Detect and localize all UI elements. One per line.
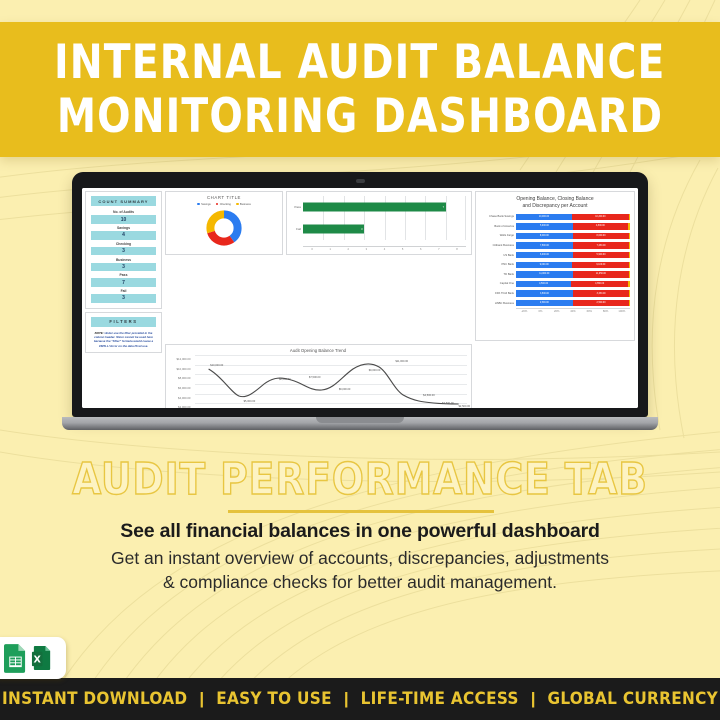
legend-item-business[interactable]: Business (236, 203, 251, 206)
line-chart-svg (195, 355, 467, 408)
stacked-row-label: Citibank Business (480, 244, 516, 247)
svg-text:X: X (34, 654, 42, 665)
stacked-seg-closing-value: 9,100.00 (596, 264, 605, 266)
stack-tick-1: 0% (532, 310, 548, 313)
stacked-seg-discrepancy (629, 233, 630, 239)
stack-tick-2: 20% (549, 310, 565, 313)
stacked-seg-closing: 10,200.00 (572, 214, 629, 220)
stacked-seg-discrepancy (629, 300, 630, 306)
footer-item-1: EASY TO USE (216, 689, 332, 709)
stacked-row-label: Chase Bank Savings (480, 215, 516, 218)
stacked-seg-discrepancy (629, 271, 630, 277)
stacked-seg-closing-value: 10,200.00 (595, 216, 605, 218)
stacked-seg-opening: 7,500.00 (516, 242, 573, 248)
donut-chart-card: CHART TITLE Savings Checking Business (165, 191, 283, 255)
stacked-row-track: 3,500.003,450.00 (516, 290, 630, 296)
stacked-seg-opening-value: 6,000.00 (540, 254, 549, 256)
y-tick-0: $12,000.00 (177, 357, 191, 361)
banner-title-line1: INTERNAL AUDIT BALANCE (54, 36, 665, 90)
y-tick-4: $4,000.00 (178, 396, 190, 400)
stacked-seg-opening-value: 4,500.00 (539, 283, 548, 285)
stacked-seg-discrepancy (629, 290, 630, 296)
stack-tick-4: 60% (581, 310, 597, 313)
stacked-seg-opening: 3,500.00 (516, 290, 573, 296)
stacked-seg-discrepancy (629, 214, 630, 220)
line-point-label-9: $2,500.00 (458, 405, 470, 408)
stacked-seg-closing-value: 5,900.00 (597, 254, 606, 256)
laptop-lid: COUNT SUMMARY No. of Audits 10 Savings 4… (72, 172, 648, 417)
stack-tick-5: 80% (597, 310, 613, 313)
stacked-seg-opening-value: 3,500.00 (540, 293, 549, 295)
stacked-row-label: Capital One (480, 282, 516, 285)
bar-row-fail: Fail 3 (290, 218, 466, 240)
stacked-seg-closing: 8,000.00 (573, 233, 630, 239)
stacked-row-track: 11,000.0011,050.00 (516, 271, 630, 277)
stacked-row-label: Bank of America (480, 225, 516, 228)
dashboard-left-column: COUNT SUMMARY No. of Audits 10 Savings 4… (85, 191, 162, 341)
webcam-icon (356, 179, 365, 183)
stacked-row-track: 2,500.002,500.00 (516, 300, 630, 306)
line-point-label-4: $6,000.00 (339, 388, 351, 391)
promo-description-line2: & compliance checks for better audit man… (0, 570, 720, 594)
spreadsheet-dashboard: COUNT SUMMARY No. of Audits 10 Savings 4… (82, 188, 638, 408)
dashboard-middle-row: Audit Opening Balance Trend $12,000.00 $… (85, 344, 635, 408)
legend-swatch-checking (216, 203, 219, 206)
stacked-seg-discrepancy (629, 252, 630, 258)
line-point-label-7: $4,500.00 (423, 394, 435, 397)
excel-icon: X (31, 644, 54, 673)
middle-spacer-right (475, 344, 635, 408)
stacked-seg-opening-value: 7,500.00 (540, 245, 549, 247)
laptop-mockup: COUNT SUMMARY No. of Audits 10 Savings 4… (62, 172, 658, 430)
stacked-seg-closing-value: 3,450.00 (597, 293, 606, 295)
y-tick-5: $2,000.00 (178, 405, 190, 408)
bar-fill-pass: 7 (303, 203, 446, 212)
stacked-seg-opening: 6,000.00 (516, 252, 573, 258)
promo-tagline: See all financial balances in one powerf… (0, 520, 720, 543)
stacked-seg-closing-value: 8,000.00 (597, 235, 606, 237)
bar-tick-8: 8 (448, 248, 466, 251)
donut-chart-title: CHART TITLE (169, 195, 279, 200)
stacked-axis: -20% 0% 20% 40% 60% 80% 100% (516, 308, 630, 313)
line-point-label-6: $11,000.00 (395, 360, 408, 363)
donut-legend: Savings Checking Business (169, 203, 279, 206)
stacked-seg-opening: 4,500.00 (516, 281, 571, 287)
line-point-label-1: $5,000.00 (244, 400, 256, 403)
bar-tick-3: 3 (357, 248, 375, 251)
stacked-seg-discrepancy (628, 281, 630, 287)
filters-title: FILTERS (91, 317, 156, 327)
stacked-seg-closing-value: 7,450.00 (597, 245, 606, 247)
stacked-row-label: US Bank (480, 254, 516, 257)
bar-axis: 0 1 2 3 4 5 6 7 8 (303, 246, 466, 251)
legend-label-business: Business (240, 203, 251, 206)
y-tick-3: $6,000.00 (178, 386, 190, 390)
line-point-label-5: $9,000.00 (369, 369, 381, 372)
line-point-label-8: $3,500.00 (442, 402, 454, 405)
stacked-row: Chase Bank Savings10,000.0010,200.00 (480, 212, 630, 222)
bar-tick-1: 1 (321, 248, 339, 251)
middle-spacer (85, 344, 162, 408)
stacked-row-track: 10,000.0010,200.00 (516, 214, 630, 220)
laptop-notch (316, 417, 404, 423)
count-summary-panel: COUNT SUMMARY No. of Audits 10 Savings 4… (85, 191, 162, 309)
stack-tick-3: 40% (565, 310, 581, 313)
legend-item-checking[interactable]: Checking (216, 203, 231, 206)
stacked-seg-closing: 2,500.00 (573, 300, 630, 306)
stacked-row-label: Fifth Third Bank (480, 292, 516, 295)
dashboard-top-row: COUNT SUMMARY No. of Audits 10 Savings 4… (85, 191, 635, 341)
banner-title-line2: MONITORING DASHBOARD (57, 90, 663, 144)
footer-item-2: LIFE-TIME ACCESS (361, 689, 519, 709)
line-point-label-2: $8,000.00 (279, 378, 291, 381)
line-chart-yaxis: $12,000.00 $10,000.00 $8,000.00 $6,000.0… (166, 359, 192, 408)
stacked-seg-opening: 10,000.00 (516, 214, 572, 220)
laptop-base (62, 417, 658, 430)
count-value-business: 3 (91, 263, 156, 271)
legend-label-savings: Savings (201, 203, 211, 206)
line-chart-card: Audit Opening Balance Trend $12,000.00 $… (165, 344, 472, 408)
y-tick-1: $10,000.00 (177, 367, 191, 371)
count-value-savings: 4 (91, 231, 156, 239)
stacked-seg-closing-value: 2,500.00 (597, 302, 606, 304)
stacked-seg-opening-value: 8,000.00 (540, 235, 549, 237)
donut-chart-svg (204, 208, 244, 248)
stacked-chart-title: Opening Balance, Closing Balance and Dis… (480, 196, 630, 209)
line-chart-series (209, 364, 459, 404)
bar-value-fail: 3 (361, 228, 362, 231)
line-chart-plot: $10,000.00 $5,000.00 $8,000.00 $7,500.00… (195, 355, 467, 408)
count-value-fail: 3 (91, 294, 156, 302)
footer-separator-2: | (531, 689, 536, 709)
stacked-row-track: 9,000.009,100.00 (516, 262, 630, 268)
stacked-seg-opening: 9,000.00 (516, 262, 572, 268)
footer-item-0: INSTANT DOWNLOAD (2, 689, 187, 709)
count-value-pass: 7 (91, 278, 156, 286)
count-value-audits: 10 (91, 215, 156, 223)
stacked-seg-opening-value: 11,000.00 (539, 273, 549, 275)
bar-value-pass: 7 (443, 206, 444, 209)
stacked-row: Fifth Third Bank3,500.003,450.00 (480, 289, 630, 299)
stacked-row-label: TD Bank (480, 273, 516, 276)
pass-fail-bar-card: Pass 7 (286, 191, 472, 255)
stacked-seg-discrepancy (629, 242, 630, 248)
line-point-label-0: $10,000.00 (210, 364, 223, 367)
stacked-seg-closing-value: 4,800.00 (596, 225, 605, 227)
stacked-row-label: Wells Fargo (480, 234, 516, 237)
bar-fill-fail: 3 (303, 225, 364, 234)
stacked-seg-closing-value: 4,650.00 (595, 283, 604, 285)
stacked-row: Bank of America5,000.004,800.00 (480, 222, 630, 232)
stacked-row: TD Bank11,000.0011,050.00 (480, 270, 630, 280)
legend-swatch-business (236, 203, 239, 206)
stacked-seg-closing: 4,650.00 (571, 281, 628, 287)
stack-tick-0: -20% (516, 310, 532, 313)
bar-tick-7: 7 (430, 248, 448, 251)
y-tick-2: $8,000.00 (178, 376, 190, 380)
stacked-seg-opening: 5,000.00 (516, 223, 573, 229)
stacked-row-track: 6,000.005,900.00 (516, 252, 630, 258)
count-value-checking: 3 (91, 247, 156, 255)
stacked-row-label: PNC Bank (480, 263, 516, 266)
stacked-seg-closing-value: 11,050.00 (596, 273, 606, 275)
stacked-bar-card: Opening Balance, Closing Balance and Dis… (475, 191, 635, 341)
bar-tick-0: 0 (303, 248, 321, 251)
footer-separator-0: | (199, 689, 204, 709)
stacked-row-label: HSBC Business (480, 302, 516, 305)
stacked-row: Wells Fargo8,000.008,000.00 (480, 231, 630, 241)
bar-track-pass: 7 (303, 196, 466, 218)
legend-item-savings[interactable]: Savings (197, 203, 211, 206)
google-sheets-icon (4, 644, 27, 673)
stack-tick-6: 100% (614, 310, 630, 313)
stacked-seg-opening: 2,500.00 (516, 300, 573, 306)
file-format-badge: X (0, 637, 66, 679)
stacked-seg-opening-value: 2,500.00 (540, 302, 549, 304)
stacked-seg-closing: 11,050.00 (573, 271, 630, 277)
bar-label-fail: Fail (290, 227, 303, 231)
stacked-row-track: 8,000.008,000.00 (516, 233, 630, 239)
header-banner: INTERNAL AUDIT BALANCE MONITORING DASHBO… (0, 22, 720, 157)
footer-separator-1: | (344, 689, 349, 709)
stacked-row: Citibank Business7,500.007,450.00 (480, 241, 630, 251)
stacked-seg-opening-value: 10,000.00 (539, 216, 549, 218)
stacked-row: Capital One4,500.004,650.00 (480, 279, 630, 289)
stacked-seg-closing: 9,100.00 (572, 262, 629, 268)
line-point-label-3: $7,500.00 (309, 376, 321, 379)
section-title-rule (228, 510, 494, 513)
section-title: AUDIT PERFORMANCE TAB (18, 454, 702, 505)
bar-tick-5: 5 (394, 248, 412, 251)
bar-track-fail: 3 (303, 218, 466, 240)
bar-row-pass: Pass 7 (290, 196, 466, 218)
stacked-row: PNC Bank9,000.009,100.00 (480, 260, 630, 270)
laptop-screen: COUNT SUMMARY No. of Audits 10 Savings 4… (82, 188, 638, 408)
stacked-title-line2: and Discrepancy per Account (480, 203, 630, 210)
stacked-seg-opening: 8,000.00 (516, 233, 573, 239)
stacked-seg-opening-value: 5,000.00 (540, 225, 549, 227)
stacked-seg-opening-value: 9,000.00 (540, 264, 549, 266)
legend-label-checking: Checking (220, 203, 231, 206)
stacked-seg-discrepancy (628, 223, 630, 229)
bar-tick-4: 4 (375, 248, 393, 251)
filters-note-prefix: NOTE: (95, 331, 104, 335)
line-chart-title: Audit Opening Balance Trend (169, 348, 467, 353)
stacked-seg-opening: 11,000.00 (516, 271, 573, 277)
stacked-row-track: 7,500.007,450.00 (516, 242, 630, 248)
stacked-seg-discrepancy (629, 262, 630, 268)
stacked-seg-closing: 7,450.00 (573, 242, 629, 248)
stacked-row: HSBC Business2,500.002,500.00 (480, 298, 630, 308)
legend-swatch-savings (197, 203, 200, 206)
stacked-seg-closing: 3,450.00 (573, 290, 629, 296)
promo-description-line1: Get an instant overview of accounts, dis… (0, 546, 720, 570)
footer-item-3: GLOBAL CURRENCY (547, 689, 718, 709)
count-summary-title: COUNT SUMMARY (91, 196, 156, 206)
stacked-row: US Bank6,000.005,900.00 (480, 250, 630, 260)
stacked-rows: Chase Bank Savings10,000.0010,200.00Bank… (480, 212, 630, 308)
promo-description: Get an instant overview of accounts, dis… (0, 546, 720, 594)
stacked-seg-closing: 5,900.00 (573, 252, 629, 258)
stacked-row-track: 4,500.004,650.00 (516, 281, 630, 287)
footer-bar: INSTANT DOWNLOAD | EASY TO USE | LIFE-TI… (0, 678, 720, 720)
bar-tick-6: 6 (412, 248, 430, 251)
stacked-row-track: 5,000.004,800.00 (516, 223, 630, 229)
bar-label-pass: Pass (290, 205, 303, 209)
bar-tick-2: 2 (339, 248, 357, 251)
stacked-seg-closing: 4,800.00 (573, 223, 628, 229)
